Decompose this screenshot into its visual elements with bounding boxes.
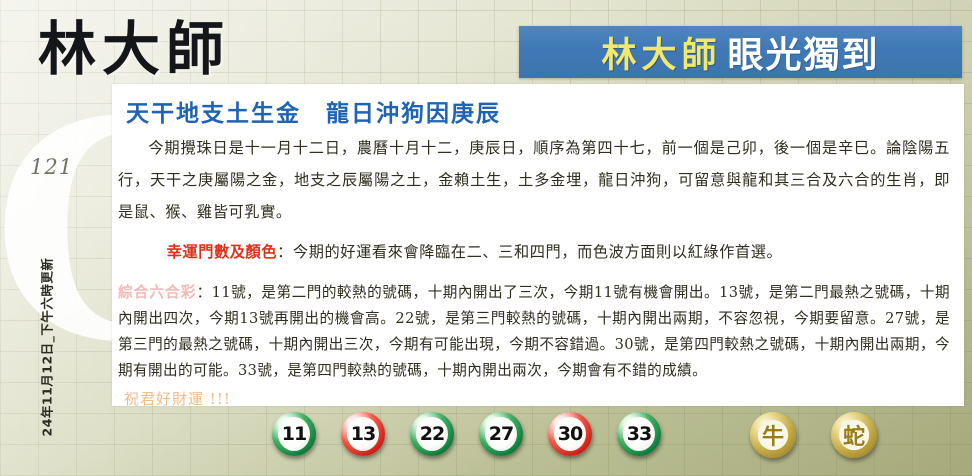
article-paragraph-1: 今期攪珠日是十一月十二日，農曆十月十二，庚辰日，順序為第四十七，前一個是己卯，後… [118,132,950,228]
predicted-zodiacs-row: 牛 蛇 [750,412,877,458]
ball-number: 11 [282,423,306,445]
closing-wish: 祝君好財運 !!! [124,388,964,409]
masthead-title: 林大師 [38,18,230,80]
lottery-ball[interactable]: 11 [272,412,316,456]
combo-text: ：11號，是第二門的較熱的號碼，十期內開出了三次，今期11號有機會開出。13號，… [118,284,950,379]
slogan-banner: 林大師 眼光獨到 [519,26,962,78]
combo-label: 綜合六合彩 [118,284,197,301]
lottery-ball[interactable]: 33 [617,412,661,456]
update-timestamp: 24年11月12日_下午六時更新 [37,249,56,437]
lottery-ball[interactable]: 22 [410,412,454,456]
lucky-text: ：今期的好運看來會降臨在二、三和四門，而色波方面則以紅綠作首選。 [277,243,782,261]
lottery-ball[interactable]: 13 [341,412,385,456]
ball-number: 30 [558,423,582,445]
combination-analysis: 綜合六合彩：11號，是第二門的較熱的號碼，十期內開出了三次，今期11號有機會開出… [118,280,950,384]
banner-brand-name: 林大師 [601,27,721,78]
lottery-tip-page: G 121 24年11月12日_下午六時更新 林大師 林大師 眼光獨到 天干地支… [0,0,972,476]
ball-number: 33 [627,423,651,445]
page-number: 121 [30,155,73,179]
ball-number: 22 [420,423,444,445]
zodiac-coin-snake[interactable]: 蛇 [831,412,877,458]
banner-slogan: 眼光獨到 [728,26,880,78]
zodiac-label: 牛 [762,419,784,451]
zodiac-coin-ox[interactable]: 牛 [750,412,796,458]
ball-number: 13 [351,423,375,445]
zodiac-label: 蛇 [843,419,865,451]
predicted-numbers-row: 11 13 22 27 30 33 [272,412,661,456]
article-title: 天干地支土生金 龍日沖狗因庚辰 [126,94,964,128]
lucky-numbers-line: 幸運門數及顏色：今期的好運看來會降臨在二、三和四門，而色波方面則以紅綠作首選。 [118,236,950,268]
lucky-label: 幸運門數及顏色 [167,243,278,261]
lottery-ball[interactable]: 30 [548,412,592,456]
lottery-ball[interactable]: 27 [479,412,523,456]
article-sheet: 天干地支土生金 龍日沖狗因庚辰 今期攪珠日是十一月十二日，農曆十月十二，庚辰日，… [112,84,964,406]
ball-number: 27 [489,423,513,445]
